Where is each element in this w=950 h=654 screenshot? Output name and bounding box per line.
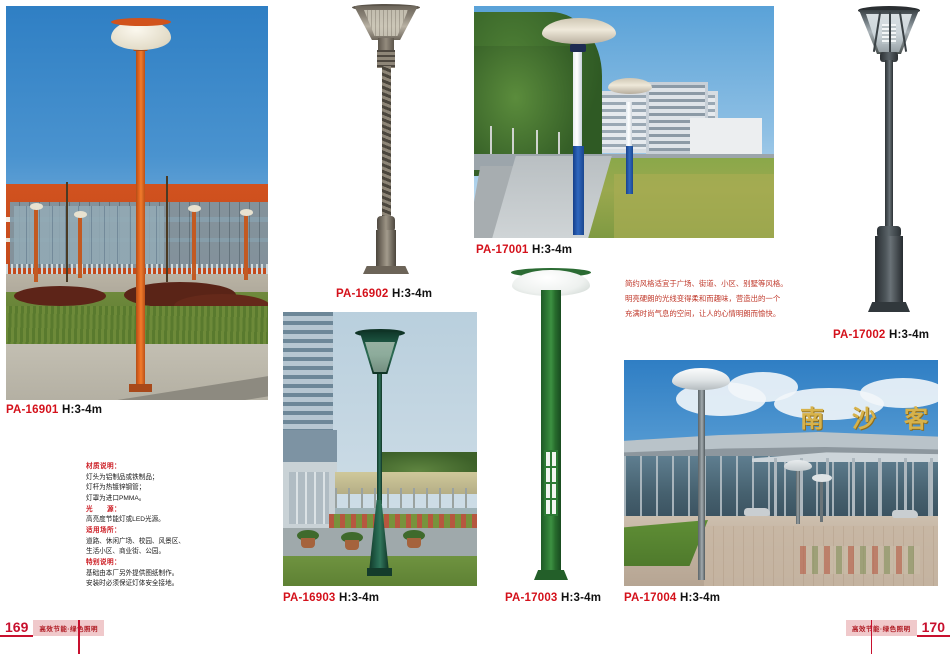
lamp-post-near bbox=[698, 388, 705, 580]
spec-place-line-2: 生活小区、商业街、公园。 bbox=[86, 547, 226, 558]
lamp-shade-rim bbox=[111, 18, 171, 26]
product-photo-pa-16901 bbox=[6, 6, 268, 400]
sign-char-1: 南 bbox=[800, 407, 824, 431]
spec-note-heading: 特别说明： bbox=[86, 558, 226, 569]
product-height-pa-17002: H:3-4m bbox=[889, 329, 929, 341]
product-code-pa-17002: PA-17002 bbox=[833, 329, 886, 341]
product-render-pa-16902 bbox=[330, 2, 442, 284]
lamp-post-lower-front bbox=[573, 146, 584, 235]
product-height-pa-17003: H:3-4m bbox=[561, 592, 601, 604]
parked-car-left bbox=[744, 508, 770, 516]
description-line-3: 充满时尚气息的空间，让人的心情明朗而愉快。 bbox=[625, 307, 825, 322]
page-number-right: 170 bbox=[917, 619, 950, 637]
colored-paving-band bbox=[800, 546, 920, 574]
spec-material-line-1: 灯头为铝制品或铁制品； bbox=[86, 473, 226, 484]
office-building-annex bbox=[690, 118, 762, 154]
pole-base-shaft bbox=[376, 230, 396, 268]
foundation-plate bbox=[534, 570, 568, 580]
lamp-post-foot bbox=[367, 568, 392, 576]
background-lamp-head-1 bbox=[30, 203, 43, 210]
description-line-2: 明亮硬朗的光线变得柔和而趣味，营造出的一个 bbox=[625, 292, 825, 307]
bare-tree-1 bbox=[66, 182, 68, 282]
caption-pa-17003: PA-17003 H:3-4m bbox=[505, 592, 601, 604]
bare-tree-2 bbox=[166, 176, 168, 282]
product-code-pa-16903: PA-16903 bbox=[283, 592, 336, 604]
product-code-pa-17001: PA-17001 bbox=[476, 244, 529, 256]
sign-char-3: 客 bbox=[904, 407, 928, 431]
square-lamp-post bbox=[541, 290, 561, 576]
product-code-pa-17003: PA-17003 bbox=[505, 592, 558, 604]
product-height-pa-17001: H:3-4m bbox=[532, 244, 572, 256]
style-description: 简约风格适宜于广场、街道、小区、别墅等风格。 明亮硬朗的光线变得柔和而趣味，营造… bbox=[625, 277, 825, 321]
background-lamp-head-4 bbox=[240, 209, 253, 216]
lamp-shade-near bbox=[672, 368, 730, 390]
background-lamp-1 bbox=[34, 208, 38, 282]
catalog-page: PA-16901 H:3-4m PA-16902 H:3-4m bbox=[0, 0, 950, 654]
caption-pa-17001: PA-17001 H:3-4m bbox=[476, 244, 572, 256]
product-height-pa-16902: H:3-4m bbox=[392, 288, 432, 300]
spec-material-heading: 材质说明： bbox=[86, 462, 226, 473]
product-photo-pa-17001 bbox=[474, 6, 774, 238]
background-lamp-3 bbox=[192, 210, 196, 280]
red-shrub-left bbox=[14, 286, 106, 306]
lamp-cap-front bbox=[570, 44, 586, 52]
lamp-shade-rear bbox=[608, 78, 652, 94]
lamp-shade-far bbox=[812, 474, 832, 482]
footer-tagline-left: 高效节能·绿色照明 bbox=[33, 620, 104, 636]
planter-pot-3 bbox=[407, 538, 421, 548]
lawn-highlight bbox=[614, 174, 774, 238]
product-height-pa-16903: H:3-4m bbox=[339, 592, 379, 604]
spec-note-line-1: 基础由本厂另外提供图纸制作。 bbox=[86, 569, 226, 580]
foundation-plate bbox=[363, 266, 409, 274]
shade-rib-center bbox=[889, 12, 891, 52]
specifications-block: 材质说明： 灯头为铝制品或铁制品； 灯杆为热镀锌钢管； 灯罩为进口PMMA。 光… bbox=[86, 462, 226, 590]
parked-car-right bbox=[892, 510, 918, 518]
product-render-pa-17002 bbox=[832, 2, 946, 322]
lamp-post-lower-rear bbox=[626, 146, 633, 194]
lamp-post-mast bbox=[377, 374, 382, 504]
product-code-pa-17004: PA-17004 bbox=[624, 592, 677, 604]
lamp-shade-mid bbox=[784, 460, 812, 471]
product-height-pa-16901: H:3-4m bbox=[62, 404, 102, 416]
caption-pa-17004: PA-17004 H:3-4m bbox=[624, 592, 720, 604]
description-line-1: 简约风格适宜于广场、街道、小区、别墅等风格。 bbox=[625, 277, 825, 292]
background-lamp-head-3 bbox=[188, 205, 201, 212]
building-signage: 南 沙 客 bbox=[800, 402, 928, 436]
spec-note-line-2: 安装时必须保证灯体安全接地。 bbox=[86, 579, 226, 590]
product-code-pa-16901: PA-16901 bbox=[6, 404, 59, 416]
footer-rule-left bbox=[78, 620, 80, 654]
product-height-pa-17004: H:3-4m bbox=[680, 592, 720, 604]
footer-rule-right bbox=[871, 620, 873, 654]
lamp-pole bbox=[885, 60, 893, 228]
product-code-pa-16902: PA-16902 bbox=[336, 288, 389, 300]
planter-pot-2 bbox=[345, 540, 359, 550]
product-render-pa-17003 bbox=[498, 262, 606, 588]
spec-light-heading: 光 源： bbox=[86, 505, 226, 516]
light-window-grid bbox=[544, 450, 558, 516]
caption-pa-17002: PA-17002 H:3-4m bbox=[833, 329, 929, 341]
spec-material-line-3: 灯罩为进口PMMA。 bbox=[86, 494, 226, 505]
footer-left: 169 高效节能·绿色照明 bbox=[0, 620, 104, 636]
background-lamp-head-2 bbox=[74, 211, 87, 218]
product-photo-pa-16903 bbox=[283, 312, 477, 586]
spec-light-line-1: 高亮度节能灯或LED光源。 bbox=[86, 515, 226, 526]
footer-right: 高效节能·绿色照明 170 bbox=[846, 620, 950, 636]
page-number-left: 169 bbox=[0, 619, 33, 637]
lamp-post-mast bbox=[136, 40, 145, 390]
spec-place-heading: 适用场所： bbox=[86, 526, 226, 537]
lamp-post-base bbox=[129, 384, 152, 392]
background-lamp-4 bbox=[244, 214, 248, 280]
spec-place-line-1: 道路、休闲广场、校园、风景区、 bbox=[86, 537, 226, 548]
sign-char-2: 沙 bbox=[852, 407, 876, 431]
lamp-post-far bbox=[820, 480, 823, 522]
lamp-post-mid bbox=[796, 468, 800, 524]
background-lamp-2 bbox=[78, 216, 82, 278]
pole-base-shaft bbox=[875, 236, 903, 304]
spec-material-line-2: 灯杆为热镀锌钢管； bbox=[86, 483, 226, 494]
caption-pa-16903: PA-16903 H:3-4m bbox=[283, 592, 379, 604]
twisted-pole bbox=[382, 66, 391, 218]
caption-pa-16902: PA-16902 H:3-4m bbox=[336, 288, 432, 300]
caption-pa-16901: PA-16901 H:3-4m bbox=[6, 404, 102, 416]
foundation-plate bbox=[868, 302, 910, 312]
lamp-shade-front bbox=[542, 18, 616, 44]
footer-tagline-right: 高效节能·绿色照明 bbox=[846, 620, 917, 636]
planter-pot-1 bbox=[301, 538, 315, 548]
product-photo-pa-17004: 南 沙 客 bbox=[624, 360, 938, 586]
